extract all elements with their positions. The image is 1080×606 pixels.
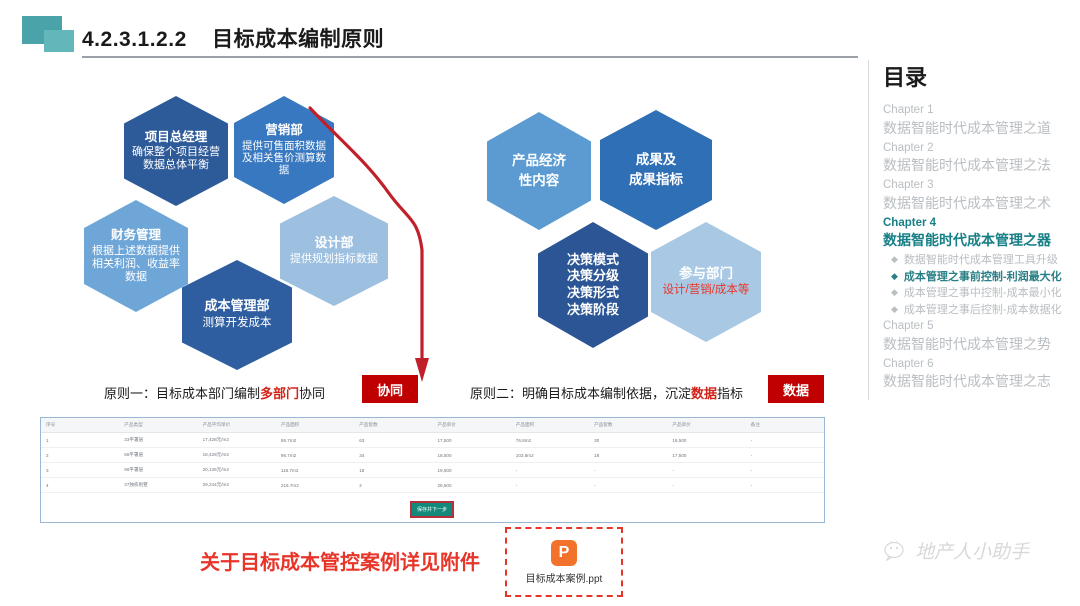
table-cell: 2 [41,448,119,463]
principle-two-highlight: 数据 [691,386,717,401]
attachment-card[interactable]: P 目标成本案例.ppt [505,527,623,597]
table-cell: - [667,463,745,478]
table-cell: 2 [354,478,432,493]
watermark-text: 地产人小助手 [915,537,1029,564]
toc-chapter-title[interactable]: 数据智能时代成本管理之术 [883,194,1073,213]
toc-sub-item[interactable]: ◆数据智能时代成本管理工具升级 [891,252,1073,269]
toc-sub-item-label: 成本管理之事中控制-成本最小化 [904,285,1062,302]
table-column-header: 产品平均单价 [198,418,276,433]
table-row: 133平署层17,428元/m286.7m26317,50076.8m23019… [41,433,824,448]
toc-chapter-label[interactable]: Chapter 5 [883,318,1073,335]
hexagon-title: 成果及 成果指标 [629,150,683,191]
toc-sub-item-label: 数据智能时代成本管理工具升级 [904,252,1058,269]
table-cell: - [511,478,589,493]
page-title-number: 4.2.3.1.2.2 [82,28,187,51]
table-cell: 29,500 [432,478,510,493]
hexagon-subtitle: 确保整个项目经营数据总体平衡 [124,146,228,172]
toc-sub-item[interactable]: ◆成本管理之事后控制-成本数据化 [891,302,1073,319]
table-body: 133平署层17,428元/m286.7m26317,50076.8m23019… [41,433,824,493]
wechat-icon [884,541,908,561]
diamond-bullet-icon: ◆ [891,252,898,267]
table-column-header: 备注 [746,418,824,433]
hexagon-subtitle: 测算开发成本 [197,317,278,331]
page-title: 4.2.3.1.2.2 目标成本编制原则 [82,23,384,53]
table-cell: 18 [589,448,667,463]
principle-one-prefix: 原则一：目标成本部门编制 [104,386,260,401]
table-cell: 98平署层 [119,463,197,478]
red-curved-arrow [270,100,510,390]
table-cell: - [667,478,745,493]
table-cell: 19,500 [432,463,510,478]
table-cell: 17,428元/m2 [198,433,276,448]
table-cell: 17,500 [432,433,510,448]
principle-two-prefix: 原则二：明确目标成本编制依据，沉淀 [470,386,691,401]
table-cell: - [746,478,824,493]
toc-sub-item-label: 成本管理之事后控制-成本数据化 [904,302,1062,319]
table-cell: - [746,433,824,448]
toc-chapter-label[interactable]: Chapter 3 [883,177,1073,194]
table-cell: 3 [41,463,119,478]
toc-chapter-title[interactable]: 数据智能时代成本管理之器 [883,231,1073,250]
table-cell: - [511,463,589,478]
watermark: 地产人小助手 [884,537,1029,564]
toc-chapter-label[interactable]: Chapter 2 [883,140,1073,157]
attachment-note: 关于目标成本管控案例详见附件 [200,546,480,575]
principle-one-highlight: 多部门 [260,386,299,401]
table-cell: 19,500 [667,433,745,448]
table-cell: 20,136元/m2 [198,463,276,478]
table-cell: 58平署层 [119,448,197,463]
table-of-contents: 目录 Chapter 1数据智能时代成本管理之道Chapter 2数据智能时代成… [868,60,1073,400]
table-column-header: 产品套数 [354,418,432,433]
attachment-filename: 目标成本案例.ppt [526,570,603,585]
header-divider [82,56,858,58]
table-cell: - [589,478,667,493]
table-cell: 103.8m2 [511,448,589,463]
diamond-bullet-icon: ◆ [891,285,898,300]
hexagon-subtitle: 设计/营销/成本等 [663,284,750,298]
table-cell: 4 [41,478,119,493]
slide-canvas: 4.2.3.1.2.2 目标成本编制原则 项目总经理 确保整个项目经营数据总体平… [0,0,1080,606]
toc-title: 目录 [883,60,1073,92]
principle-one-tag: 协同 [362,375,418,403]
hexagon-subtitle: 根据上述数据提供相关利润、收益率数据 [84,245,188,284]
toc-chapter-title[interactable]: 数据智能时代成本管理之法 [883,156,1073,175]
table-cell: 30 [589,433,667,448]
table-cell: 1 [41,433,119,448]
table-column-header: 产品单价 [667,418,745,433]
toc-chapter-title[interactable]: 数据智能时代成本管理之势 [883,335,1073,354]
diamond-bullet-icon: ◆ [891,269,898,284]
table-column-header: 产品面积 [511,418,589,433]
table-column-header: 产品类型 [119,418,197,433]
principle-one-suffix: 协同 [299,386,325,401]
toc-chapter-title[interactable]: 数据智能时代成本管理之志 [883,372,1073,391]
page-title-text: 目标成本编制原则 [212,28,384,51]
header-decor-square-small [44,30,74,52]
hexagon-title: 财务管理 [111,228,161,242]
hexagon-title: 成本管理部 [204,299,269,314]
table-row: 398平署层20,136元/m2116.7m21819,500---- [41,463,824,478]
toc-chapter-title[interactable]: 数据智能时代成本管理之道 [883,119,1073,138]
toc-list: Chapter 1数据智能时代成本管理之道Chapter 2数据智能时代成本管理… [883,102,1073,391]
cost-table: 序号产品类型产品平均单价产品面积产品套数产品单价产品面积产品套数产品单价备注 1… [41,418,824,493]
principle-two-text: 原则二：明确目标成本编制依据，沉淀数据指标 [470,383,743,402]
principle-one-text: 原则一：目标成本部门编制多部门协同 [104,383,325,402]
table-cell: 96.7m2 [276,448,354,463]
table-column-header: 序号 [41,418,119,433]
table-cell: 37独栋别墅 [119,478,197,493]
ppt-icon: P [551,540,577,566]
table-row: 437独栋别墅29,244元/m2216.7m2229,500---- [41,478,824,493]
toc-chapter-label[interactable]: Chapter 6 [883,356,1073,373]
table-cell: - [746,463,824,478]
toc-chapter-label[interactable]: Chapter 4 [883,215,1073,232]
principle-two-suffix: 指标 [717,386,743,401]
toc-sub-item[interactable]: ◆成本管理之事前控制-利润最大化 [891,269,1073,286]
hexagon-project-manager: 项目总经理 确保整个项目经营数据总体平衡 [124,96,228,206]
table-column-header: 产品套数 [589,418,667,433]
toc-sub-item-label: 成本管理之事前控制-利润最大化 [904,269,1062,286]
table-cell: 63 [354,433,432,448]
hexagon-title: 项目总经理 [145,130,208,144]
hexagon-finance-dept: 财务管理 根据上述数据提供相关利润、收益率数据 [84,200,188,312]
diamond-bullet-icon: ◆ [891,302,898,317]
toc-sub-item[interactable]: ◆成本管理之事中控制-成本最小化 [891,285,1073,302]
table-cell: - [589,463,667,478]
principle-two-tag: 数据 [768,375,824,403]
table-cell: 34 [354,448,432,463]
table-cell: 18 [354,463,432,478]
hexagon-title: 参与部门 [679,266,733,282]
toc-chapter-label[interactable]: Chapter 1 [883,102,1073,119]
table-cell: 29,244元/m2 [198,478,276,493]
table-cell: 116.7m2 [276,463,354,478]
table-cell: 18,500 [432,448,510,463]
table-cell: 18,428元/m2 [198,448,276,463]
hexagon-decision-model: 决策模式 决策分级 决策形式 决策阶段 [538,222,648,348]
table-header-row: 序号产品类型产品平均单价产品面积产品套数产品单价产品面积产品套数产品单价备注 [41,418,824,433]
hexagon-title: 产品经济 性内容 [512,151,566,192]
hexagon-results-indicators: 成果及 成果指标 [600,110,712,230]
table-cell: 216.7m2 [276,478,354,493]
table-column-header: 产品面积 [276,418,354,433]
table-cell: 76.8m2 [511,433,589,448]
table-cell: 17,500 [667,448,745,463]
table-column-header: 产品单价 [432,418,510,433]
hexagon-participating-dept: 参与部门 设计/营销/成本等 [651,222,761,342]
table-cell: - [746,448,824,463]
table-row: 258平署层18,428元/m296.7m23418,500103.8m2181… [41,448,824,463]
table-cell: 86.7m2 [276,433,354,448]
table-cell: 33平署层 [119,433,197,448]
hexagon-title: 决策模式 决策分级 决策形式 决策阶段 [567,252,619,319]
save-next-button[interactable]: 保存并下一步 [410,501,454,518]
